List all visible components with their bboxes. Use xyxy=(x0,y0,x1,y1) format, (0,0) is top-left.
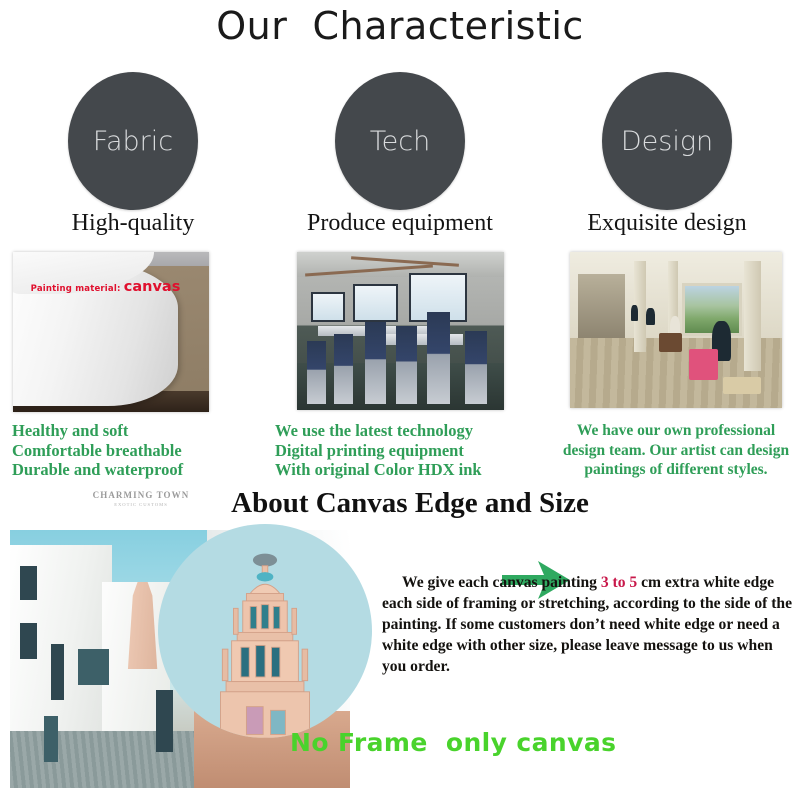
feature-line: We have our own professional design team… xyxy=(558,421,794,480)
section2-header: CHARMING TOWN EXOTIC CUSTOMS About Canva… xyxy=(0,487,800,525)
studio-cart xyxy=(689,349,719,380)
magnified-tower-inset xyxy=(158,524,372,738)
watermark-tagline: EXOTIC CUSTOMS xyxy=(85,502,197,507)
feature-text-row: Healthy and soft Comfortable breathable … xyxy=(0,421,800,483)
badge-row: Fabric Tech Design xyxy=(0,72,800,212)
street-window xyxy=(51,644,65,701)
tower-detail-illustration xyxy=(209,537,320,738)
street-doorway xyxy=(44,716,58,762)
badge-circle-design: Design xyxy=(602,72,732,210)
canvas-overlay-small: Painting material: xyxy=(31,284,121,294)
feature-text-fabric: Healthy and soft Comfortable breathable … xyxy=(12,421,262,480)
brand-watermark: CHARMING TOWN EXOTIC CUSTOMS xyxy=(85,490,197,507)
studio-person xyxy=(646,308,654,325)
factory-window xyxy=(311,292,344,322)
factory-machine xyxy=(334,334,353,404)
factory-machine xyxy=(365,322,386,404)
badge-cell-design: Design xyxy=(534,72,800,212)
canvas-overlay-big: canvas xyxy=(124,279,181,295)
badge-caption: High-quality xyxy=(0,210,266,237)
studio-corridor xyxy=(578,274,625,340)
photo-row: Painting material: canvas xyxy=(0,250,800,414)
street-window xyxy=(156,690,173,752)
size-description: We give each canvas painting 3 to 5 cm e… xyxy=(382,572,794,677)
studio-table xyxy=(659,333,682,352)
badge-label: Tech xyxy=(370,126,430,157)
badge-cell-tech: Tech xyxy=(267,72,533,212)
watermark-brand: CHARMING TOWN xyxy=(85,490,197,500)
canvas-material-image: Painting material: canvas xyxy=(13,252,209,412)
street-window xyxy=(20,566,37,600)
photo-art-studio xyxy=(570,252,782,408)
factory-window xyxy=(353,284,399,322)
no-frame-note: No Frame only canvas xyxy=(290,728,620,757)
feature-line: Healthy and soft Comfortable breathable … xyxy=(12,421,262,480)
feature-text-design: We have our own professional design team… xyxy=(558,421,794,480)
factory-machine xyxy=(427,312,450,404)
infographic-page: Our Characteristic Fabric Tech Design Hi… xyxy=(0,0,800,800)
photo-canvas-material: Painting material: canvas xyxy=(13,252,209,412)
street-balcony xyxy=(78,649,109,685)
factory-image xyxy=(297,252,504,410)
size-text-highlight: 3 to 5 xyxy=(601,574,637,591)
badge-cell-fabric: Fabric xyxy=(0,72,266,212)
canvas-overlay-text: Painting material: canvas xyxy=(31,279,181,295)
badge-circle-fabric: Fabric xyxy=(68,72,198,210)
badge-caption-row: High-quality Produce equipment Exquisite… xyxy=(0,210,800,244)
badge-caption: Exquisite design xyxy=(534,210,800,237)
page-title: Our Characteristic xyxy=(0,4,800,48)
street-window xyxy=(20,623,37,659)
badge-circle-tech: Tech xyxy=(335,72,465,210)
factory-machine xyxy=(307,341,326,404)
section2-title: About Canvas Edge and Size xyxy=(190,487,630,520)
studio-bench xyxy=(723,377,761,394)
feature-text-tech: We use the latest technology Digital pri… xyxy=(275,421,525,480)
photo-printing-factory xyxy=(297,252,504,410)
factory-machine xyxy=(396,326,417,403)
studio-image xyxy=(570,252,782,408)
badge-label: Fabric xyxy=(93,126,173,157)
size-text-part1: We give each canvas painting xyxy=(402,574,601,591)
studio-column xyxy=(744,261,761,370)
badge-caption: Produce equipment xyxy=(267,210,533,237)
factory-machine xyxy=(465,331,488,404)
studio-person xyxy=(631,305,637,321)
feature-line: We use the latest technology Digital pri… xyxy=(275,421,525,480)
badge-label: Design xyxy=(621,126,713,157)
